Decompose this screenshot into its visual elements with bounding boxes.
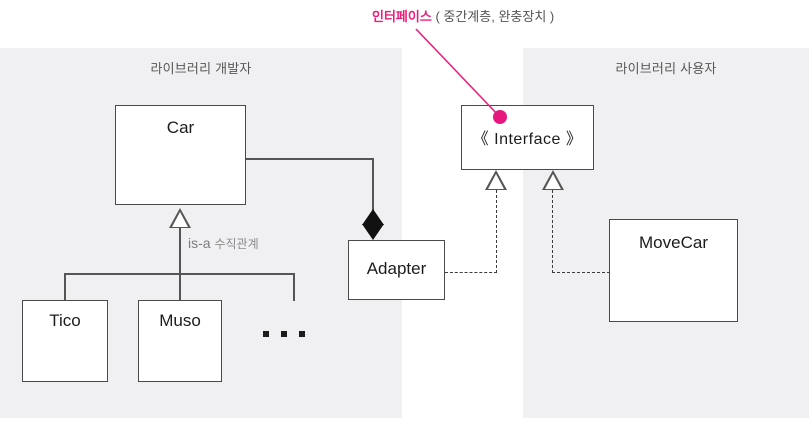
connector-drop-muso bbox=[179, 273, 181, 301]
connector-drop-others bbox=[293, 273, 295, 301]
class-box-movecar-label: MoveCar bbox=[610, 233, 737, 253]
ellipsis-dot bbox=[281, 331, 287, 337]
connector-adapter-interface-horizontal bbox=[445, 272, 497, 273]
ellipsis-more-subclasses bbox=[263, 331, 309, 343]
class-box-interface[interactable]: 《 Interface 》 bbox=[461, 105, 594, 170]
class-box-car[interactable]: Car bbox=[115, 105, 246, 205]
class-box-car-label: Car bbox=[116, 118, 245, 138]
class-box-adapter[interactable]: Adapter bbox=[348, 240, 445, 300]
isa-label-note: 수직관계 bbox=[214, 237, 258, 251]
connector-car-adapter-horizontal bbox=[246, 158, 374, 160]
connector-car-adapter-vertical bbox=[372, 158, 374, 212]
panel-library-developer-title: 라이브러리 개발자 bbox=[0, 58, 402, 77]
class-box-movecar[interactable]: MoveCar bbox=[609, 219, 738, 322]
ellipsis-dot bbox=[263, 331, 269, 337]
connector-movecar-interface-horizontal bbox=[552, 272, 610, 273]
annotation-target-dot bbox=[493, 110, 507, 124]
diagram-canvas: 라이브러리 개발자 라이브러리 사용자 Car Tico Muso Adapte… bbox=[0, 0, 809, 428]
class-box-muso-label: Muso bbox=[139, 311, 221, 331]
class-box-adapter-label: Adapter bbox=[349, 259, 444, 279]
connector-drop-tico bbox=[64, 273, 66, 301]
isa-relationship-label: is-a 수직관계 bbox=[188, 235, 259, 252]
class-box-interface-label: 《 Interface 》 bbox=[462, 125, 593, 149]
annotation-interface: 인터페이스 ( 중간계층, 완충장치 ) bbox=[372, 6, 554, 25]
connector-movecar-interface-vertical bbox=[552, 190, 553, 273]
isa-label-text: is-a bbox=[188, 235, 211, 251]
connector-car-inheritance-stem bbox=[179, 227, 181, 274]
ellipsis-dot bbox=[299, 331, 305, 337]
panel-library-user-title: 라이브러리 사용자 bbox=[523, 58, 809, 77]
class-box-muso[interactable]: Muso bbox=[138, 300, 222, 382]
connector-adapter-interface-vertical bbox=[496, 190, 497, 273]
class-box-tico[interactable]: Tico bbox=[22, 300, 108, 382]
annotation-note: ( 중간계층, 완충장치 ) bbox=[435, 9, 554, 24]
annotation-keyword: 인터페이스 bbox=[372, 9, 432, 24]
class-box-tico-label: Tico bbox=[23, 311, 107, 331]
